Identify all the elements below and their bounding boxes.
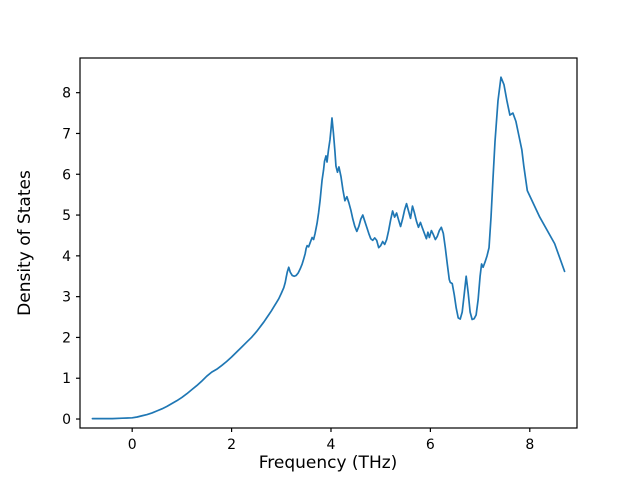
x-tick-label: 0 <box>128 437 137 453</box>
x-tick-label: 4 <box>327 437 336 453</box>
y-tick-label: 6 <box>62 167 71 183</box>
y-tick-label: 3 <box>62 290 71 306</box>
y-tick-label: 0 <box>62 412 71 428</box>
axes-background <box>80 58 577 428</box>
y-tick-label: 5 <box>62 208 71 224</box>
y-tick-label: 8 <box>62 86 71 102</box>
x-tick-label: 8 <box>525 437 534 453</box>
dos-plot-svg: 02468 012345678 Frequency (THz) Density … <box>0 0 640 480</box>
y-tick-label: 1 <box>62 371 71 387</box>
x-tick-label: 2 <box>227 437 236 453</box>
y-axis-label: Density of States <box>15 170 35 316</box>
y-tick-label: 2 <box>62 330 71 346</box>
y-tick-label: 4 <box>62 249 71 265</box>
x-tick-label: 6 <box>426 437 435 453</box>
y-tick-label: 7 <box>62 126 71 142</box>
x-axis-label: Frequency (THz) <box>259 453 398 473</box>
matplotlib-figure: 02468 012345678 Frequency (THz) Density … <box>0 0 640 480</box>
